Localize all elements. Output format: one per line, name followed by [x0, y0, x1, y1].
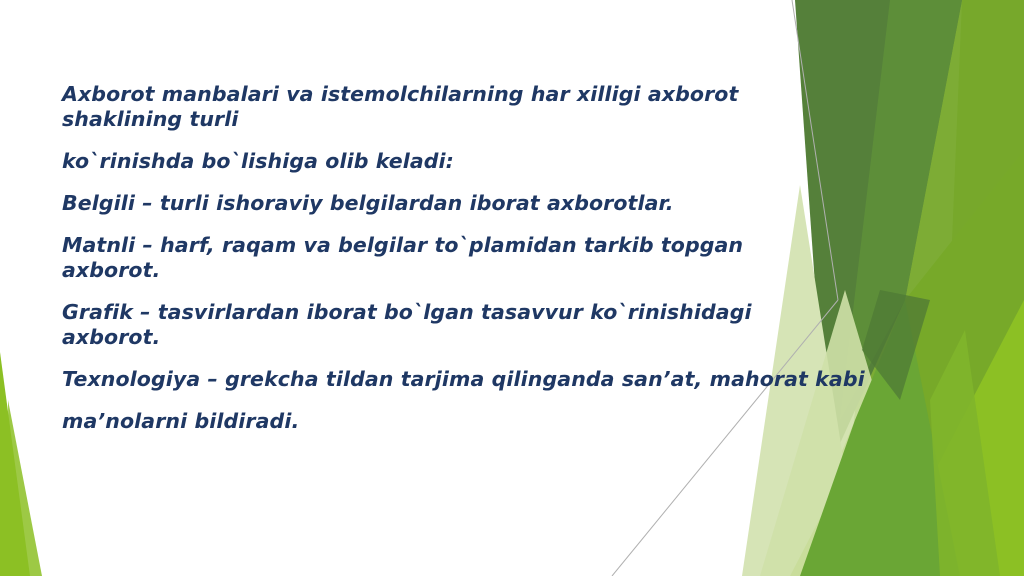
paragraph-1: Axborot manbalari va istemolchilarning h… [62, 82, 797, 132]
presentation-slide: Axborot manbalari va istemolchilarning h… [0, 0, 1024, 576]
paragraph-5: Grafik – tasvirlardan iborat bo`lgan tas… [62, 300, 797, 350]
slide-body-text: Axborot manbalari va istemolchilarning h… [62, 82, 872, 434]
paragraph-2: ko`rinishda bo`lishiga olib keladi: [62, 149, 797, 174]
deco-shape-left-wedge-2 [8, 400, 42, 576]
paragraph-3: Belgili – turli ishoraviy belgilardan ib… [62, 191, 797, 216]
paragraph-4: Matnli – harf, raqam va belgilar to`plam… [62, 233, 797, 283]
deco-shape-right-column [938, 0, 1024, 576]
paragraph-7: ma’nolarni bildiradi. [62, 409, 797, 434]
paragraph-6: Texnologiya – grekcha tildan tarjima qil… [62, 367, 867, 392]
deco-shape-lime-sliver [930, 330, 1000, 576]
deco-shape-left-wedge [0, 352, 30, 576]
deco-shape-dark-accent [862, 290, 930, 400]
